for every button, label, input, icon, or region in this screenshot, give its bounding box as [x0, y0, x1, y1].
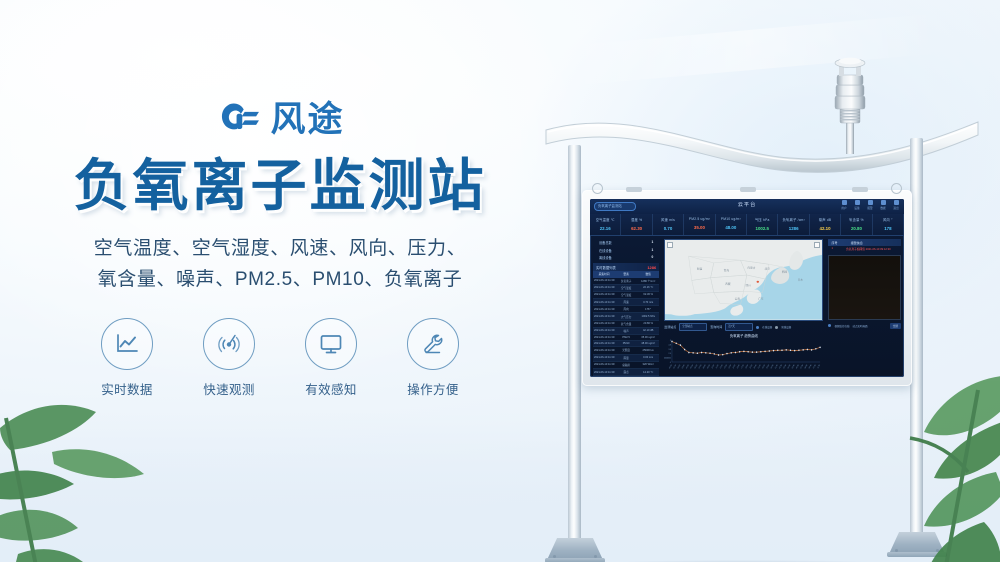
svg-text:02:30: 02:30	[779, 364, 783, 369]
svg-text:新疆: 新疆	[697, 267, 703, 271]
svg-text:青海: 青海	[724, 268, 730, 272]
legend-dot-online	[756, 326, 759, 329]
table-row[interactable]: 2021-06-10 11:30:00氧气含量20.80 %	[593, 320, 659, 327]
map-graphic: 新疆 青海 西藏 内蒙古 四川 云南 广东 北京 日本 韩国	[665, 240, 822, 320]
legend-label-online: 在线设备	[762, 325, 772, 329]
table-cell: 2021-06-10 11:30:00	[593, 291, 615, 298]
header-icon-label: 退出	[892, 206, 900, 210]
page-title: 负氧离子监测站	[0, 156, 560, 215]
fullscreen-button[interactable]: 全屏	[890, 323, 901, 329]
svg-text:17:00: 17:00	[741, 364, 745, 369]
table-cell: 22.16 ℃	[637, 284, 659, 291]
subtitle-line-2: 氧含量、噪声、PM2.5、PM10、负氧离子	[0, 265, 560, 296]
svg-text:04:30: 04:30	[788, 364, 792, 369]
svg-text:05:30: 05:30	[792, 364, 796, 369]
marketing-column: 风途 负氧离子监测站 空气温度、空气湿度、风速、风向、压力、 氧含量、噪声、PM…	[0, 96, 560, 398]
table-row[interactable]: 2021-06-10 11:30:00露点14.20 ℃	[593, 368, 659, 375]
table-cell: 2021-06-10 11:30:00	[593, 327, 615, 334]
metric-card[interactable]: 噪声 dB42.10	[810, 214, 841, 235]
chart-title: 负氧离子 趋势曲线	[664, 333, 823, 338]
table-panel-count: 1286	[647, 265, 656, 270]
metric-card[interactable]: 负氧离子 /cm³1286	[778, 214, 809, 235]
svg-text:07:30: 07:30	[800, 364, 804, 369]
header-icon-data[interactable]: 数据	[879, 200, 887, 210]
realtime-data-table[interactable]: 采集时间要素数值 2021-06-10 11:30:00负氧离子1286 个/c…	[593, 271, 659, 376]
device-stat-list: 设备总数1在线设备1离线设备0	[593, 239, 659, 261]
feature-label: 快速观测	[192, 379, 266, 398]
svg-text:20:00: 20:00	[754, 364, 758, 369]
header-icon-exit[interactable]: 退出	[892, 200, 900, 210]
svg-text:09:30: 09:30	[809, 364, 813, 369]
device-stat-label: 离线设备	[599, 255, 612, 260]
svg-text:04:00: 04:00	[686, 364, 690, 369]
subtitle: 空气温度、空气湿度、风速、风向、压力、 氧含量、噪声、PM2.5、PM10、负氧…	[0, 234, 560, 296]
monitor-icon	[318, 332, 344, 356]
video-status-label: 视频监控在线	[834, 324, 849, 328]
brand-logo: 风途	[0, 96, 560, 142]
device-stat-row: 设备总数1	[593, 239, 659, 246]
device-stat-label: 设备总数	[599, 240, 612, 245]
device-stat-label: 在线设备	[599, 248, 612, 253]
metric-card[interactable]: 氧含量 %20.80	[841, 214, 872, 235]
svg-text:01:30: 01:30	[775, 364, 779, 369]
device-icon	[855, 200, 860, 205]
base-plate-left-foot	[545, 558, 605, 562]
map-date-select[interactable]: 近7天	[725, 323, 753, 331]
table-panel-header: 实时数据列表 1286	[593, 263, 659, 271]
table-cell: 62.30 %	[637, 291, 659, 298]
left-panel: 设备总数1在线设备1离线设备0 实时数据列表 1286 采集时间要素数值 202…	[590, 236, 662, 377]
svg-text:02:00: 02:00	[678, 364, 682, 369]
data-icon	[881, 200, 886, 205]
metric-value: 42.10	[810, 226, 840, 231]
svg-text:4.8: 4.8	[669, 344, 671, 346]
table-cell: 露点	[615, 368, 637, 375]
svg-text:08:00: 08:00	[703, 364, 707, 369]
map-station-select[interactable]: 全部站点	[679, 323, 707, 331]
svg-text:内蒙古: 内蒙古	[748, 266, 757, 270]
wind-cloud-logo-icon	[215, 99, 261, 139]
table-cell: 2021-06-10 11:30:00	[593, 278, 615, 285]
alert-col-index: 序号	[828, 239, 847, 246]
table-cell: 1002.5 hPa	[637, 313, 659, 320]
svg-text:06:30: 06:30	[796, 364, 800, 369]
svg-text:16:00: 16:00	[737, 364, 741, 369]
feature-item-effective-sensing[interactable]: 有效感知	[294, 318, 368, 398]
base-bolt	[594, 555, 597, 558]
table-cell: 1286 个/cm³	[637, 278, 659, 285]
table-cell: 178 °	[637, 306, 659, 313]
table-cell: 2021-06-10 11:30:00	[593, 299, 615, 306]
metric-label: PM2.5 ug/m³	[684, 217, 714, 221]
svg-text:06:00: 06:00	[695, 364, 699, 369]
alarm-icon	[868, 200, 873, 205]
alert-message: 负氧离子超阈值 2021-06-10 09:12:30	[846, 247, 898, 251]
table-cell: 空气湿度	[615, 291, 637, 298]
table-cell: 2021-06-10 11:30:00	[593, 284, 615, 291]
metric-strip: 空气温度 ℃22.16湿度 %62.30风速 m/s0.70PM2.5 ug/m…	[590, 214, 904, 236]
feature-label: 操作方便	[396, 379, 470, 398]
table-row[interactable]: 2021-06-10 11:30:00总辐射320 W/m²	[593, 361, 659, 368]
header-icon-group: 用户 设备 报警 数据	[840, 200, 900, 210]
device-stat-row: 离线设备0	[593, 254, 659, 261]
decorative-leaves-left	[0, 358, 172, 562]
metric-label: 空气温度 ℃	[590, 217, 620, 222]
radar-signal-icon	[216, 331, 242, 357]
svg-text:1.2000000000000002: 1.2000000000000002	[664, 357, 671, 359]
hanger-ring-right	[891, 183, 902, 194]
svg-text:14:00: 14:00	[728, 364, 732, 369]
table-cell: 20.80 %	[637, 320, 659, 327]
feature-label: 有效感知	[294, 379, 368, 398]
svg-text:12:00: 12:00	[720, 364, 724, 369]
feature-item-easy-operation[interactable]: 操作方便	[396, 318, 470, 398]
decorative-leaves-right	[850, 350, 1000, 562]
device-stat-value: 0	[651, 255, 653, 260]
map-zoom-in-button[interactable]	[667, 242, 673, 248]
video-surveillance-panel[interactable]	[828, 255, 901, 320]
header-icon-label: 用户	[840, 206, 848, 210]
video-caption-label: 站点实时画面	[853, 324, 868, 328]
metric-value: 178	[873, 226, 903, 231]
table-row[interactable]: 2021-06-10 11:30:00空气温度22.16 ℃	[593, 284, 659, 291]
brand-name: 风途	[270, 102, 344, 137]
table-cell: 14.20 ℃	[637, 368, 659, 375]
svg-text:19:00: 19:00	[750, 364, 754, 369]
svg-text:3.6: 3.6	[669, 349, 671, 351]
feature-icon-circle	[407, 318, 459, 370]
svg-text:21:00: 21:00	[758, 364, 762, 369]
trend-chart[interactable]: 负氧离子 趋势曲线 64.83.62.41.200000000000000200…	[664, 333, 823, 375]
svg-text:05:00: 05:00	[690, 364, 694, 369]
metric-value: 1286	[778, 226, 808, 231]
poster-canvas: 风途 负氧离子监测站 空气温度、空气湿度、风速、风向、压力、 氧含量、噪声、PM…	[0, 0, 1000, 562]
metric-value: 22.16	[590, 226, 620, 231]
metric-value: 20.80	[841, 226, 871, 231]
legend-label-offline: 离线设备	[781, 325, 791, 329]
svg-text:云南: 云南	[735, 297, 741, 301]
chart-graphic: 64.83.62.41.2000000000000002000:0001:000…	[664, 333, 823, 375]
svg-text:10:00: 10:00	[711, 364, 715, 369]
metric-card[interactable]: 气压 hPa1002.5	[747, 214, 778, 235]
table-cell: 大气压力	[615, 313, 637, 320]
table-row[interactable]: 2021-06-10 11:30:00空气湿度62.30 %	[593, 291, 659, 298]
metric-value: 62.30	[621, 226, 651, 231]
header-icon-device[interactable]: 设备	[853, 200, 861, 210]
svg-text:北京: 北京	[765, 267, 771, 271]
status-dot	[828, 324, 831, 327]
legend-dot-offline	[775, 326, 778, 329]
metric-label: PM10 ug/m³	[716, 217, 746, 221]
ultrasonic-weather-sensor	[820, 50, 880, 160]
metric-card[interactable]: PM10 ug/m³48.00	[716, 214, 747, 235]
table-row[interactable]: 2021-06-10 11:30:00雨量0.00 mm	[593, 354, 659, 361]
subtitle-line-1: 空气温度、空气湿度、风速、风向、压力、	[0, 234, 560, 265]
svg-text:00:30: 00:30	[771, 364, 775, 369]
header-icon-alarm[interactable]: 报警	[866, 200, 874, 210]
metric-value: 48.00	[716, 225, 746, 230]
table-cell: 氧气含量	[615, 320, 637, 327]
table-cell: 噪声	[615, 327, 637, 334]
table-cell: 雨量	[615, 354, 637, 361]
svg-text:01:00: 01:00	[673, 364, 677, 369]
svg-text:韩国: 韩国	[782, 270, 788, 274]
svg-text:00:00: 00:00	[669, 364, 673, 369]
svg-text:13:00: 13:00	[724, 364, 728, 369]
svg-text:15:00: 15:00	[733, 364, 737, 369]
svg-text:23:00: 23:00	[767, 364, 771, 369]
wrench-icon	[420, 331, 446, 357]
table-row[interactable]: 2021-06-10 11:30:00风向178 °	[593, 306, 659, 313]
table-cell: 2021-06-10 11:30:00	[593, 347, 615, 354]
feature-icon-circle	[203, 318, 255, 370]
table-cell: 2021-06-10 11:30:00	[593, 361, 615, 368]
line-chart-icon	[114, 332, 140, 356]
alert-row[interactable]: 1 负氧离子超阈值 2021-06-10 09:12:30	[828, 246, 901, 253]
metric-label: 气压 hPa	[747, 217, 777, 222]
table-cell: 0.00 mm	[637, 354, 659, 361]
feature-item-fast-observation[interactable]: 快速观测	[192, 318, 266, 398]
table-cell: 风速	[615, 299, 637, 306]
table-cell: 负氧离子	[615, 278, 637, 285]
metric-card[interactable]: 风速 m/s0.70	[653, 214, 684, 235]
metric-value: 0.70	[653, 226, 683, 231]
table-cell: 2021-06-10 11:30:00	[593, 320, 615, 327]
svg-text:03:00: 03:00	[682, 364, 686, 369]
alert-header-row: 序号 报警信息	[828, 239, 901, 246]
map-date-label: 查询时间	[710, 325, 722, 329]
svg-text:22:00: 22:00	[762, 364, 766, 369]
mount-tab	[740, 187, 756, 192]
svg-text:09:00: 09:00	[707, 364, 711, 369]
metric-card[interactable]: PM2.5 ug/m³35.00	[684, 214, 715, 235]
metric-label: 噪声 dB	[810, 217, 840, 222]
china-map[interactable]: 新疆 青海 西藏 内蒙古 四川 云南 广东 北京 日本 韩国	[664, 239, 823, 321]
metric-card[interactable]: 风向 °178	[873, 214, 904, 235]
map-station-select-value: 全部站点	[680, 324, 706, 330]
svg-text:18:00: 18:00	[745, 364, 749, 369]
header-icon-label: 数据	[879, 206, 887, 210]
table-cell: 25600 lux	[637, 347, 659, 354]
table-cell: 320 W/m²	[637, 361, 659, 368]
table-row[interactable]: 2021-06-10 11:30:00负氧离子1286 个/cm³	[593, 278, 659, 285]
table-row[interactable]: 2021-06-10 11:30:00大气压力1002.5 hPa	[593, 313, 659, 320]
metric-label: 风向 °	[873, 217, 903, 222]
user-icon	[842, 200, 847, 205]
metric-card[interactable]: 湿度 %62.30	[621, 214, 652, 235]
svg-text:广东: 广东	[758, 297, 764, 301]
alert-index: 1	[831, 247, 846, 251]
table-row[interactable]: 2021-06-10 11:30:00噪声42.10 dB	[593, 327, 659, 334]
hanger-ring-left	[592, 183, 603, 194]
metric-value: 1002.5	[747, 226, 777, 231]
base-bolt	[553, 555, 556, 558]
header-icon-user[interactable]: 用户	[840, 200, 848, 210]
map-date-select-value: 近7天	[726, 324, 752, 330]
metric-label: 风速 m/s	[653, 217, 683, 222]
svg-text:西藏: 西藏	[725, 282, 731, 286]
support-post-left	[568, 145, 581, 540]
svg-text:08:30: 08:30	[805, 364, 809, 369]
svg-text:11:00: 11:00	[716, 364, 720, 369]
feature-icon-circle	[305, 318, 357, 370]
device-stat-value: 1	[651, 240, 653, 245]
metric-label: 湿度 %	[621, 217, 651, 222]
svg-text:03:30: 03:30	[783, 364, 787, 369]
svg-text:2.4: 2.4	[669, 353, 671, 355]
mount-tab	[626, 187, 642, 192]
metric-value: 35.00	[684, 225, 714, 230]
table-cell: 2021-06-10 11:30:00	[593, 354, 615, 361]
table-cell: 总辐射	[615, 361, 637, 368]
mount-tab	[852, 187, 868, 192]
map-toolbar: 监测站点 全部站点 查询时间 近7天 在线设备 离线设备	[664, 323, 823, 331]
svg-text:日本: 日本	[798, 278, 804, 282]
svg-text:6: 6	[670, 340, 671, 342]
table-cell: 0.70 m/s	[637, 299, 659, 306]
table-cell: 风向	[615, 306, 637, 313]
table-panel-title: 实时数据列表	[596, 265, 616, 270]
dashboard-header: 负氧离子监测站 云平台 用户 设备	[590, 199, 904, 214]
center-panel: 新疆 青海 西藏 内蒙古 四川 云南 广东 北京 日本 韩国	[662, 236, 825, 377]
table-cell: 2021-06-10 11:30:00	[593, 368, 615, 375]
metric-label: 负氧离子 /cm³	[778, 217, 808, 222]
metric-card[interactable]: 空气温度 ℃22.16	[590, 214, 621, 235]
svg-text:11:30: 11:30	[817, 364, 821, 369]
svg-text:07:00: 07:00	[699, 364, 703, 369]
table-row[interactable]: 2021-06-10 11:30:00风速0.70 m/s	[593, 299, 659, 306]
svg-text:10:30: 10:30	[813, 364, 817, 369]
table-body: 2021-06-10 11:30:00负氧离子1286 个/cm³2021-06…	[593, 278, 659, 376]
map-zoom-out-button[interactable]	[814, 242, 820, 248]
map-select-label: 监测站点	[664, 325, 676, 329]
table-row[interactable]: 2021-06-10 11:30:00光照度25600 lux	[593, 347, 659, 354]
table-cell: 42.10 dB	[637, 327, 659, 334]
table-cell: 空气温度	[615, 284, 637, 291]
table-cell: 光照度	[615, 347, 637, 354]
exit-icon	[894, 200, 899, 205]
svg-text:四川: 四川	[746, 284, 752, 287]
header-icon-label: 设备	[853, 206, 861, 210]
device-stat-row: 在线设备1	[593, 246, 659, 253]
device-stat-value: 1	[651, 248, 653, 253]
table-cell: 2021-06-10 11:30:00	[593, 313, 615, 320]
right-panel-footer: 视频监控在线 站点实时画面 全屏	[828, 323, 901, 329]
header-icon-label: 报警	[866, 206, 874, 210]
alert-col-message: 报警信息	[848, 239, 901, 246]
metric-label: 氧含量 %	[841, 217, 871, 222]
table-cell: 2021-06-10 11:30:00	[593, 306, 615, 313]
